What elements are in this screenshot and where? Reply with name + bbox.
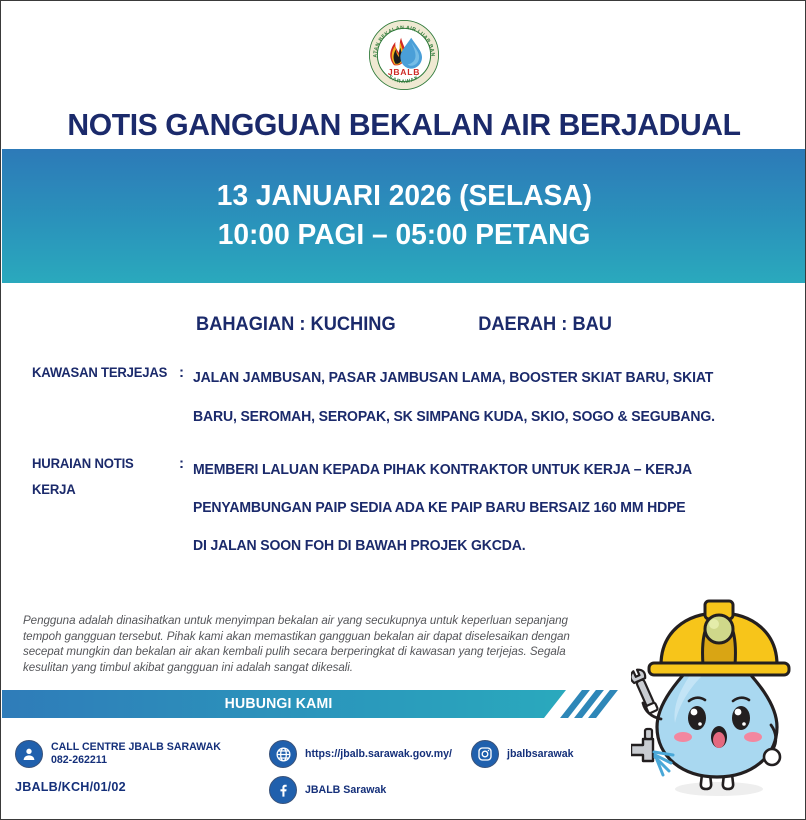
affected-areas-label: KAWASAN TERJEJAS <box>1 359 174 387</box>
jbalb-logo: JABATAN BEKALAN AIR LUAR BANDAR SARAWAK … <box>368 19 440 91</box>
affected-areas-colon: : <box>179 359 193 387</box>
contact-website[interactable]: https://jbalb.sarawak.gov.my/ <box>269 740 452 768</box>
notice-poster: JABATAN BEKALAN AIR LUAR BANDAR SARAWAK … <box>0 0 806 820</box>
affected-areas-line-1: JALAN JAMBUSAN, PASAR JAMBUSAN LAMA, BOO… <box>193 359 778 398</box>
user-icon <box>15 740 43 768</box>
call-centre-text: CALL CENTRE JBALB SARAWAK 082-262211 <box>51 741 221 767</box>
advisory-text: Pengguna adalah dinasihatkan untuk menyi… <box>23 613 593 675</box>
affected-areas-value: JALAN JAMBUSAN, PASAR JAMBUSAN LAMA, BOO… <box>193 359 778 437</box>
logo-container: JABATAN BEKALAN AIR LUAR BANDAR SARAWAK … <box>1 19 806 91</box>
banner-slashes-decoration <box>567 690 613 718</box>
call-centre-name: CALL CENTRE JBALB SARAWAK <box>51 741 221 754</box>
affected-areas-line-2: BARU, SEROMAH, SEROPAK, SK SIMPANG KUDA,… <box>193 398 778 437</box>
work-description-block: HURAIAN NOTIS KERJA : MEMBERI LALUAN KEP… <box>1 451 806 565</box>
contact-banner-label: HUBUNGI KAMI <box>225 696 333 712</box>
instagram-icon <box>471 740 499 768</box>
water-droplet-mascot <box>631 597 799 805</box>
work-description-value: MEMBERI LALUAN KEPADA PIHAK KONTRAKTOR U… <box>193 451 778 565</box>
bahagian-label: BAHAGIAN : KUCHING <box>196 314 396 336</box>
daerah-label: DAERAH : BAU <box>478 314 612 336</box>
work-description-label: HURAIAN NOTIS KERJA <box>1 451 174 503</box>
instagram-handle: jbalbsarawak <box>507 748 574 761</box>
division-row: BAHAGIAN : KUCHING DAERAH : BAU <box>17 314 791 336</box>
date-time-banner: 13 JANUARI 2026 (SELASA) 10:00 PAGI – 05… <box>2 149 806 283</box>
work-description-line-2: PENYAMBUNGAN PAIP SEDIA ADA KE PAIP BARU… <box>193 489 778 527</box>
notice-date: 13 JANUARI 2026 (SELASA) <box>216 180 591 213</box>
contact-banner: HUBUNGI KAMI <box>2 690 566 718</box>
reference-number: JBALB/KCH/01/02 <box>15 780 126 794</box>
contact-instagram[interactable]: jbalbsarawak <box>471 740 574 768</box>
facebook-handle: JBALB Sarawak <box>305 784 386 797</box>
svg-text:JBALB: JBALB <box>388 67 420 77</box>
contact-facebook[interactable]: JBALB Sarawak <box>269 776 386 804</box>
globe-icon <box>269 740 297 768</box>
website-url: https://jbalb.sarawak.gov.my/ <box>305 748 452 761</box>
work-description-line-3: DI JALAN SOON FOH DI BAWAH PROJEK GKCDA. <box>193 527 778 565</box>
work-description-colon: : <box>179 451 193 477</box>
call-centre-phone: 082-262211 <box>51 754 221 767</box>
notice-time: 10:00 PAGI – 05:00 PETANG <box>218 219 591 252</box>
affected-areas-block: KAWASAN TERJEJAS : JALAN JAMBUSAN, PASAR… <box>1 359 806 437</box>
page-title: NOTIS GANGGUAN BEKALAN AIR BERJADUAL <box>13 107 795 143</box>
work-description-line-1: MEMBERI LALUAN KEPADA PIHAK KONTRAKTOR U… <box>193 451 778 489</box>
facebook-icon <box>269 776 297 804</box>
contact-call-centre[interactable]: CALL CENTRE JBALB SARAWAK 082-262211 <box>15 740 221 768</box>
